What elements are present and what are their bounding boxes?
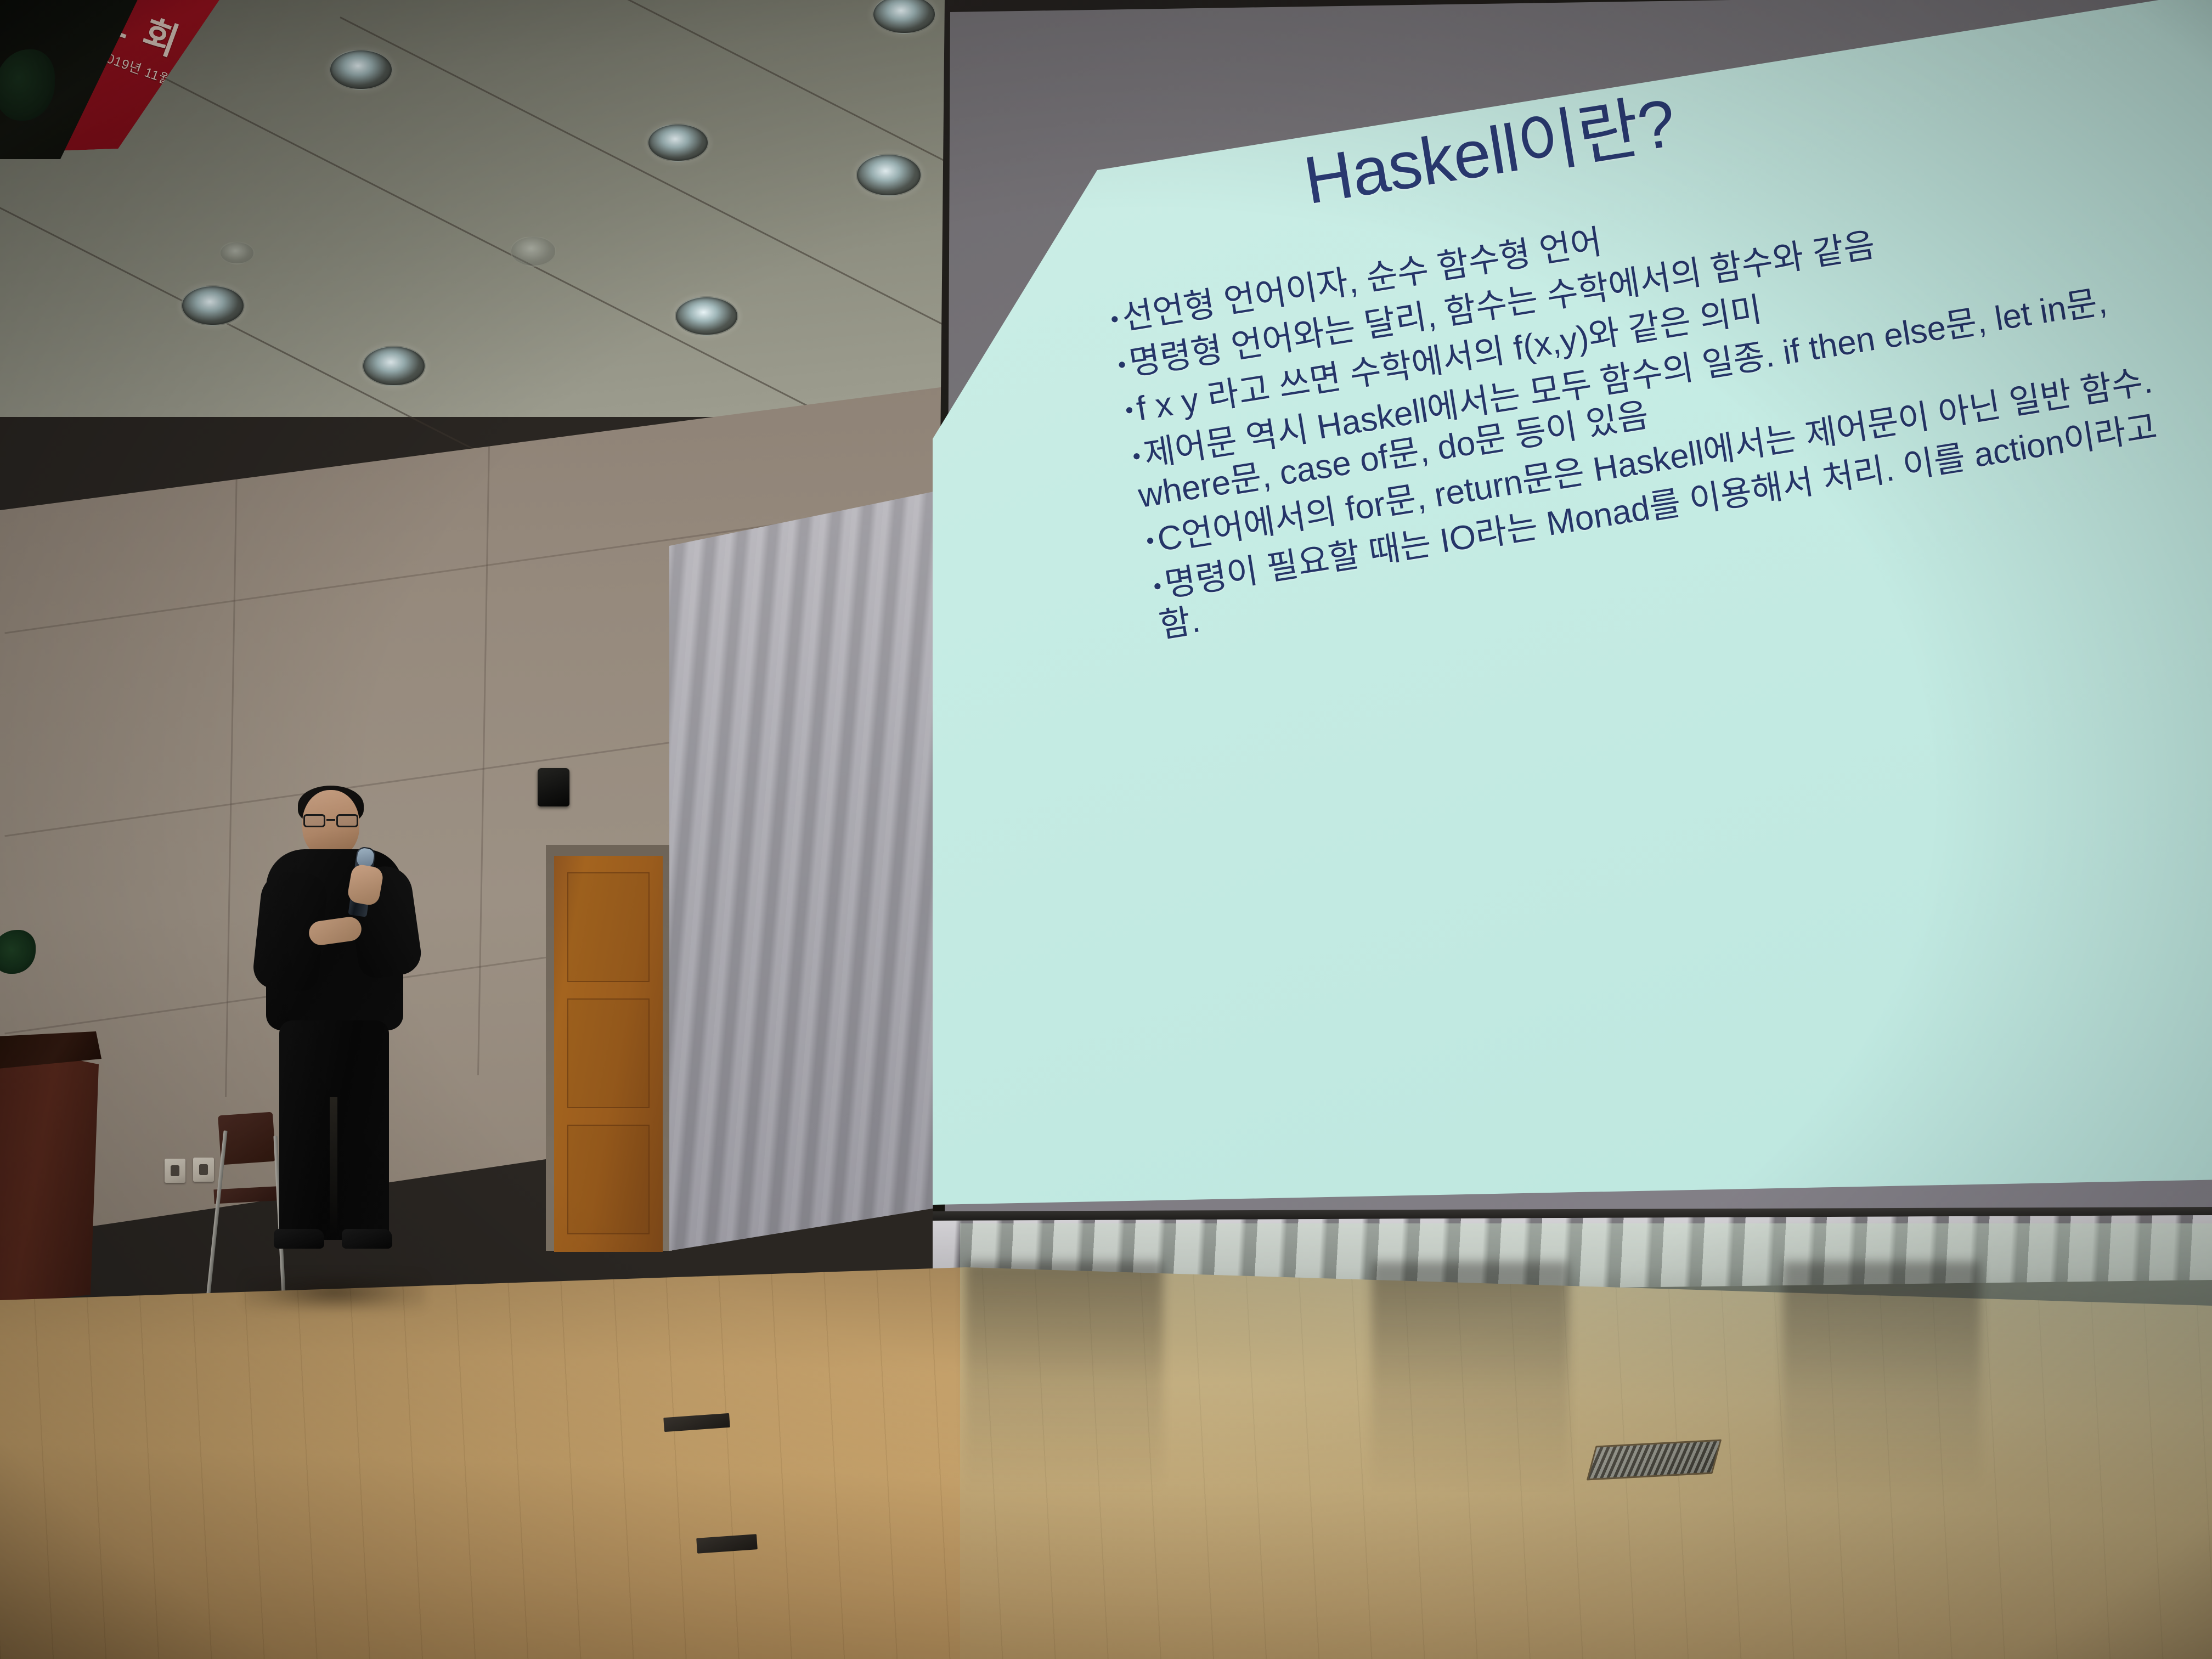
wall-seam [477,444,490,1075]
projected-slide: Haskell이란? 선언형 언어이자, 순수 함수형 언어 명령형 언어와는 … [933,0,2212,1240]
ceiling-downlight-icon [329,49,393,90]
slide-bullet-list: 선언형 언어이자, 순수 함수형 언어 명령형 언어와는 달리, 함수는 수학에… [1108,108,2212,654]
side-door[interactable] [554,856,663,1252]
door-panel [567,1125,650,1234]
ceiling-downlight-icon [181,285,245,326]
ceiling-downlight-icon [647,123,709,162]
ceiling-vent-icon [219,241,255,264]
door-panel [567,998,650,1108]
wall-seam [225,466,238,1097]
photo-scene: 제 11 회 일시 : 2019년 11월 4층 Haskell이란? [0,0,2212,1659]
glasses-lens-left [303,814,325,827]
lectern [0,1042,99,1306]
floor-reflection [1783,1262,1980,1492]
glasses-bridge [326,819,335,821]
ceiling-downlight-icon [510,236,556,267]
projection-screen: Haskell이란? 선언형 언어이자, 순수 함수형 언어 명령형 언어와는 … [933,0,2212,1240]
door-panel [567,872,650,982]
presenter-shoe-right [342,1229,392,1249]
ceiling-downlight-icon [675,296,738,336]
presenter [250,790,431,1284]
floor-access-plate [1587,1439,1722,1480]
ceiling-downlight-icon [856,154,922,196]
glasses-lens-right [336,814,358,827]
presenter-leg-gap [330,1097,337,1234]
floor-reflection [1372,1262,1569,1492]
glasses-icon [302,814,359,827]
stage-curtain [669,483,977,1251]
ceiling-downlight-icon [362,346,426,386]
presenter-shoe-left [274,1229,324,1249]
wall-outlet-icon [193,1158,214,1182]
floor-reflection [966,1262,1163,1492]
wall-speaker-icon [538,768,569,806]
wall-outlet-icon [165,1159,185,1183]
